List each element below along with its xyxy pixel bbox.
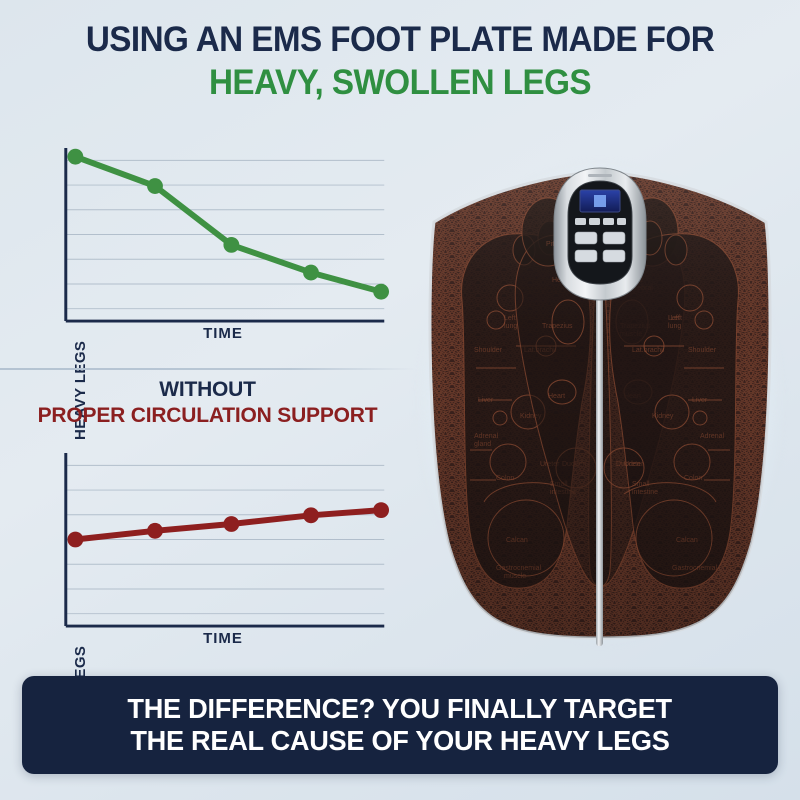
speaker-slot (588, 174, 612, 177)
section-title: WITHOUT PROPER CIRCULATION SUPPORT (0, 379, 415, 427)
section-title-line-2: PROPER CIRCULATION SUPPORT (0, 405, 415, 428)
chart2-plot-area (62, 450, 394, 631)
control-stem (596, 268, 603, 646)
headline-line-1: USING AN EMS FOOT PLATE MADE FOR (20, 22, 780, 58)
bottom-banner: THE DIFFERENCE? YOU FINALLY TARGET THE R… (22, 676, 778, 774)
chart-without-circulation-support: HEAVY LEGS TIME (28, 445, 408, 660)
control-unit[interactable] (554, 168, 646, 300)
product-image-ems-foot-plate: Leftlung Shoulder Lat.brachii Liver Kidn… (400, 150, 800, 670)
chart1-x-axis-label: TIME (62, 325, 384, 342)
foot-plate-illustration: Leftlung Shoulder Lat.brachii Liver Kidn… (400, 150, 800, 670)
infographic-canvas: USING AN EMS FOOT PLATE MADE FOR HEAVY, … (0, 0, 800, 800)
chart2-x-axis-label: TIME (62, 630, 384, 647)
banner-line-2: THE REAL CAUSE OF YOUR HEAVY LEGS (130, 725, 669, 757)
chart-with-ems-foot-plate: HEAVY LEGS TIME (28, 140, 408, 355)
banner-line-1: THE DIFFERENCE? YOU FINALLY TARGET (128, 693, 672, 725)
headline: USING AN EMS FOOT PLATE MADE FOR HEAVY, … (0, 22, 800, 102)
section-title-line-1: WITHOUT (0, 379, 415, 402)
chart1-plot-area (62, 145, 394, 326)
section-divider (0, 368, 415, 370)
headline-line-2: HEAVY, SWOLLEN LEGS (20, 65, 780, 101)
lcd-digit (594, 195, 606, 207)
